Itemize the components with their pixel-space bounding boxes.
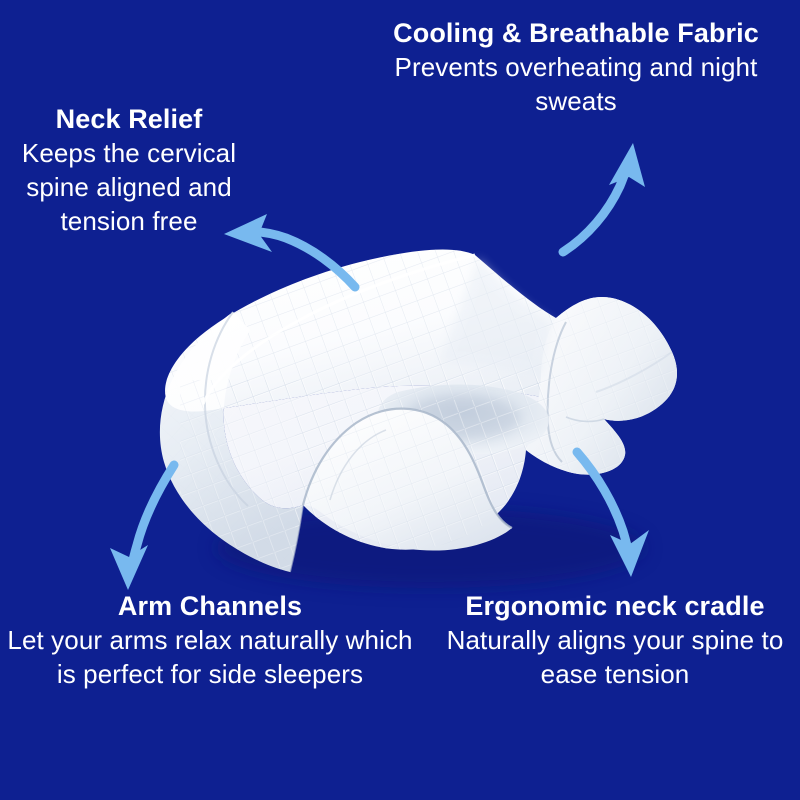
arrow-to-cooling-icon	[563, 143, 645, 252]
callout-ergonomic: Ergonomic neck cradle Naturally aligns y…	[430, 590, 800, 692]
callout-neck-relief: Neck Relief Keeps the cervical spine ali…	[0, 103, 258, 238]
callout-cooling-title: Cooling & Breathable Fabric	[352, 17, 800, 50]
infographic-canvas: Neck Relief Keeps the cervical spine ali…	[0, 0, 800, 800]
callout-arm-channels: Arm Channels Let your arms relax natural…	[0, 590, 420, 692]
callout-neck-relief-body: Keeps the cervical spine aligned and ten…	[0, 137, 258, 238]
callout-arm-channels-body: Let your arms relax naturally which is p…	[0, 624, 420, 692]
callout-ergonomic-title: Ergonomic neck cradle	[430, 590, 800, 623]
callout-neck-relief-title: Neck Relief	[0, 103, 258, 136]
arrow-to-ergonomic-icon	[577, 452, 649, 577]
arrow-to-arm-channels-icon	[110, 465, 174, 590]
callout-ergonomic-body: Naturally aligns your spine to ease tens…	[430, 624, 800, 692]
callout-cooling-body: Prevents overheating and night sweats	[352, 51, 800, 119]
callout-cooling: Cooling & Breathable Fabric Prevents ove…	[352, 17, 800, 119]
callout-arm-channels-title: Arm Channels	[0, 590, 420, 623]
